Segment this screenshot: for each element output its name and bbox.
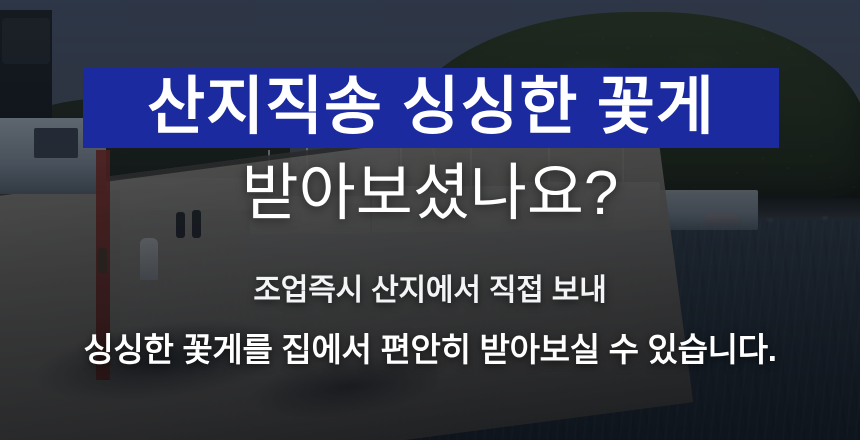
body-line-1: 조업즉시 산지에서 직접 보내 xyxy=(0,276,860,306)
body-line-2: 싱싱한 꽃게를 집에서 편안히 받아보실 수 있습니다. xyxy=(0,333,860,366)
promo-banner: 산지직송 싱싱한 꽃게 받아보셨나요? 조업즉시 산지에서 직접 보내 싱싱한 … xyxy=(0,0,860,440)
headline-text: 산지직송 싱싱한 꽃게 xyxy=(147,76,715,139)
headline-band: 산지직송 싱싱한 꽃게 xyxy=(83,68,779,148)
banner-content: 산지직송 싱싱한 꽃게 받아보셨나요? 조업즉시 산지에서 직접 보내 싱싱한 … xyxy=(0,0,860,440)
subheadline-text: 받아보셨나요? xyxy=(0,163,860,225)
